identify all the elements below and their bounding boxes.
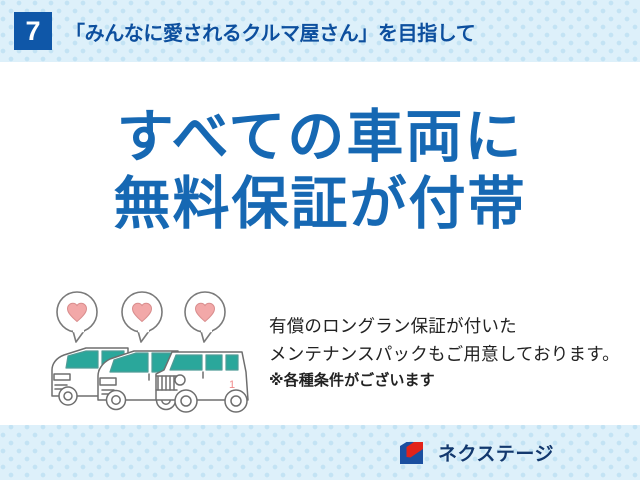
banner-footer: ネクステージ (0, 425, 640, 480)
copy-line-2: メンテナンスパックもご用意しております。 (269, 340, 640, 368)
copy-line-1: 有償のロングラン保証が付いた (269, 312, 640, 340)
headline-line-2: 無料保証が付帯 (0, 171, 640, 238)
section-number-badge: 7 (14, 12, 52, 50)
nextage-logo: ネクステージ (399, 439, 554, 466)
content-panel: すべての車両に 無料保証が付帯 (0, 62, 640, 425)
svg-text:1: 1 (229, 379, 235, 391)
warranty-copy: 有償のロングラン保証が付いた メンテナンスパックもご用意しております。 ※各種条… (269, 312, 640, 393)
heart-bubble-1 (57, 292, 97, 342)
headline-line-1: すべての車両に (0, 104, 640, 171)
header-title: 「みんなに愛されるクルマ屋さん」を目指して (65, 17, 475, 46)
heart-bubble-3 (185, 292, 225, 342)
heart-bubble-2 (122, 292, 162, 342)
headline: すべての車両に 無料保証が付帯 (0, 104, 640, 239)
lower-content-row: 1 (0, 290, 640, 425)
warranty-banner: 7 「みんなに愛されるクルマ屋さん」を目指して すべての車両に 無料保証が付帯 (0, 0, 640, 480)
cars-illustration: 1 (46, 290, 261, 420)
copy-note: ※各種条件がございます (269, 369, 640, 393)
cars-and-hearts-svg: 1 (46, 290, 261, 415)
nextage-n-icon (399, 441, 429, 465)
nextage-logo-text: ネクステージ (438, 439, 554, 466)
banner-header: 7 「みんなに愛されるクルマ屋さん」を目指して (0, 0, 640, 62)
